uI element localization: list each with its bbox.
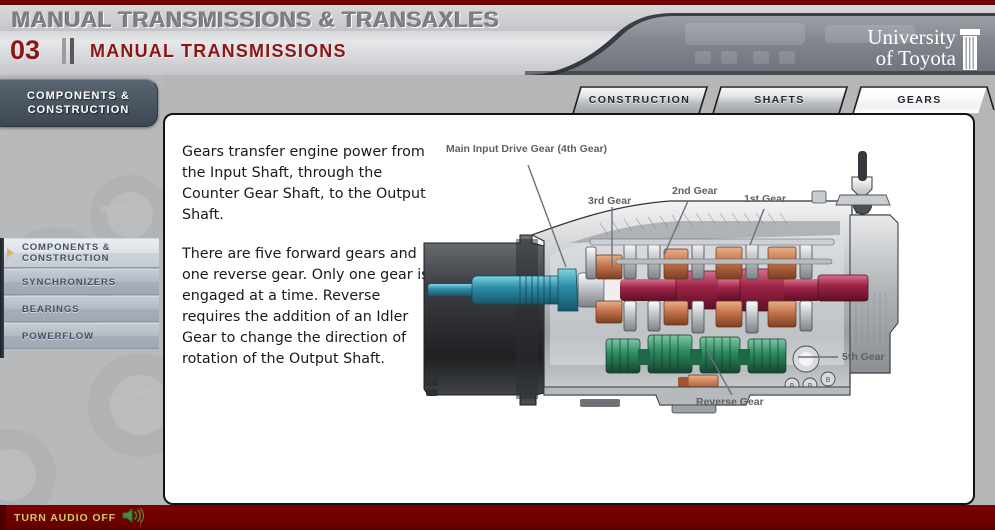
app-root: MANUAL TRANSMISSIONS & TRANSAXLES 03 MAN…	[0, 0, 995, 530]
sidebar-item-synchronizers[interactable]: SYNCHRONIZERS	[4, 269, 159, 295]
sidebar-item-label: COMPONENTS &	[22, 242, 110, 253]
sidebar-item-label: SYNCHRONIZERS	[22, 277, 116, 288]
label-3rd-gear: 3rd Gear	[588, 195, 631, 207]
sidebar-section-title-line1: COMPONENTS &	[27, 89, 130, 103]
paragraph-2: There are five forward gears and one rev…	[182, 244, 432, 370]
turn-audio-off-button[interactable]: TURN AUDIO OFF	[14, 509, 144, 526]
module-name: MANUAL TRANSMISSIONS	[90, 41, 347, 62]
label-5th-gear: 5th Gear	[842, 351, 885, 363]
header-course-band: MANUAL TRANSMISSIONS & TRANSAXLES	[0, 5, 995, 31]
sidebar-item-powerflow[interactable]: POWERFLOW	[4, 323, 159, 349]
label-1st-gear: 1st Gear	[744, 193, 786, 205]
sidebar-section-title-line2: CONSTRUCTION	[28, 103, 130, 117]
body-copy: Gears transfer engine power from the Inp…	[182, 142, 432, 388]
module-number: 03	[10, 35, 40, 66]
content-panel: Gears transfer engine power from the Inp…	[163, 113, 975, 505]
tab-construction[interactable]: CONSTRUCTION	[572, 86, 707, 114]
tab-label: GEARS	[897, 94, 941, 106]
audio-button-label: TURN AUDIO OFF	[14, 512, 116, 524]
sidebar-nav: COMPONENTS & CONSTRUCTION SYNCHRONIZERS …	[4, 238, 159, 350]
sidebar-item-label: BEARINGS	[22, 304, 79, 315]
course-title: MANUAL TRANSMISSIONS & TRANSAXLES	[12, 7, 500, 31]
tab-label: SHAFTS	[754, 94, 804, 106]
sidebar-item-label-2: CONSTRUCTION	[22, 253, 109, 264]
footer-bar: TURN AUDIO OFF	[0, 505, 995, 530]
label-main-input-drive-gear: Main Input Drive Gear (4th Gear)	[446, 143, 607, 155]
tab-shafts[interactable]: SHAFTS	[712, 86, 847, 114]
sidebar-item-components-construction[interactable]: COMPONENTS & CONSTRUCTION	[4, 238, 159, 268]
module-divider-bars	[60, 38, 80, 64]
tab-gears[interactable]: GEARS	[852, 86, 987, 114]
active-arrow-icon	[7, 248, 14, 258]
paragraph-1: Gears transfer engine power from the Inp…	[182, 142, 432, 226]
footer-left-cap	[0, 505, 6, 530]
svg-text:B: B	[826, 376, 831, 384]
sidebar: COMPONENTS & CONSTRUCTION COMPONENTS & C…	[0, 75, 163, 505]
sidebar-section-header: COMPONENTS & CONSTRUCTION	[0, 79, 158, 127]
header-module-band: 03 MANUAL TRANSMISSIONS	[0, 31, 995, 75]
footer-separator	[140, 508, 141, 527]
transmission-cutaway-diagram: BBB	[420, 143, 965, 453]
tab-label: CONSTRUCTION	[589, 94, 690, 106]
sidebar-item-bearings[interactable]: BEARINGS	[4, 296, 159, 322]
label-2nd-gear: 2nd Gear	[672, 185, 718, 197]
label-reverse-gear: Reverse Gear	[696, 396, 764, 408]
sidebar-item-label: POWERFLOW	[22, 331, 94, 342]
